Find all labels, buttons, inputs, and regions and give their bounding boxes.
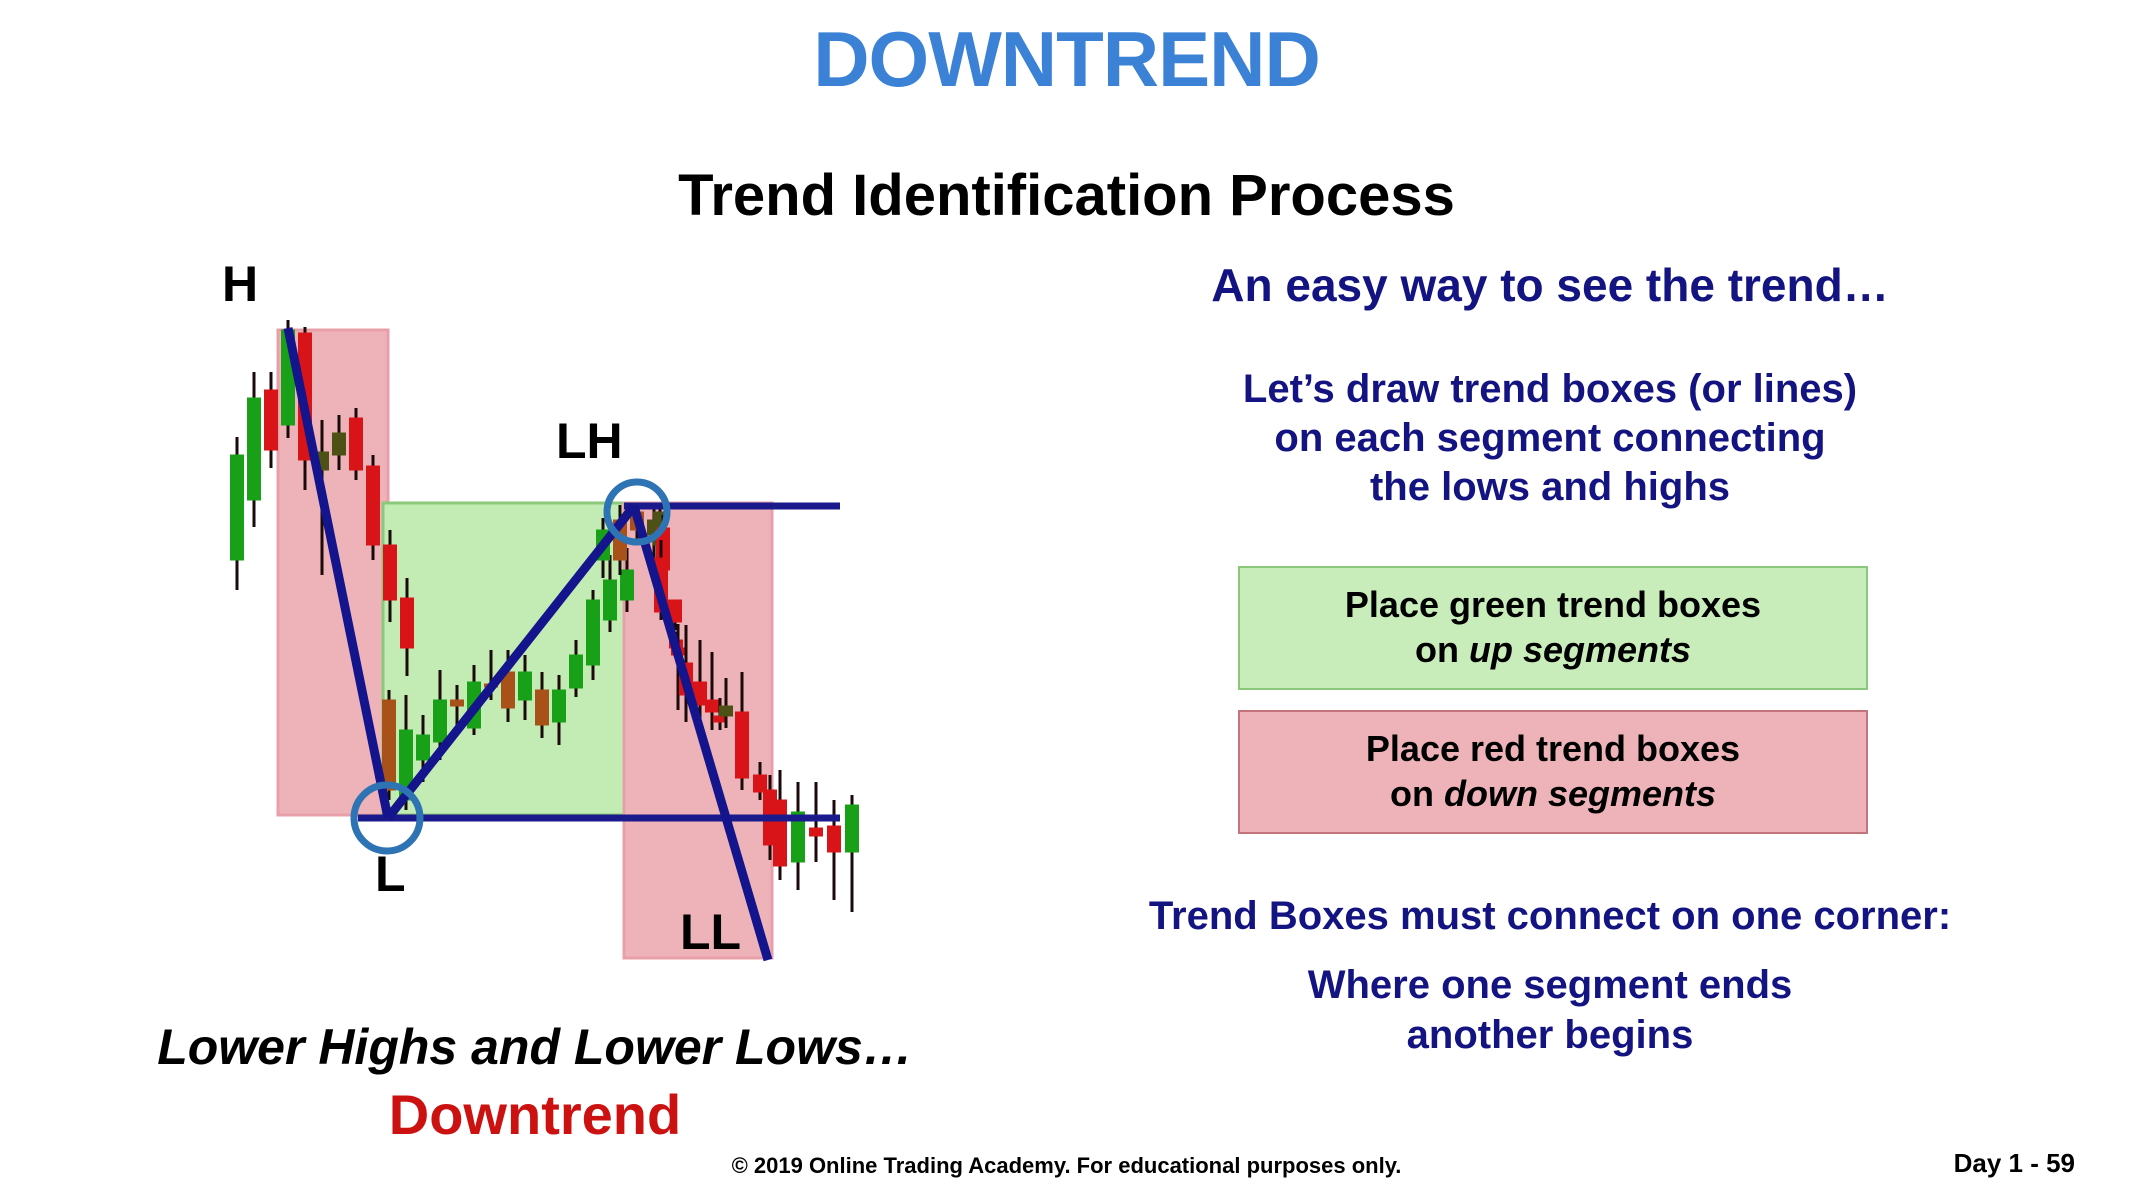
chart-caption-conclusion: Downtrend [110, 1082, 960, 1147]
trend-box-rule-body: Where one segment endsanother begins [1130, 960, 1970, 1060]
candle-body [570, 655, 583, 688]
pivot-label-high: H [222, 255, 258, 313]
candle-body [754, 775, 767, 792]
right-column-heading: An easy way to see the trend… [1100, 258, 2000, 312]
candlestick [350, 408, 363, 480]
candle-body [846, 805, 859, 852]
callout-green-line2: on up segments [1250, 627, 1856, 672]
candle-body [604, 580, 617, 620]
callout-red-line2-prefix: on [1390, 773, 1444, 814]
candlestick [231, 437, 244, 590]
candle-body [248, 398, 261, 500]
candle-body [333, 433, 346, 455]
candle-body [519, 672, 532, 700]
candle-body [367, 466, 380, 545]
candle-body [720, 706, 733, 716]
trend-box-rule-heading: Trend Boxes must connect on one corner: [1100, 894, 2000, 939]
candle-body [384, 545, 397, 600]
candle-body [810, 828, 823, 836]
candle-body [774, 800, 787, 866]
callout-green-trend-boxes: Place green trend boxes on up segments [1238, 566, 1868, 690]
page-subtitle: Trend Identification Process [0, 162, 2133, 229]
chart-caption-primary: Lower Highs and Lower Lows… [110, 1018, 960, 1076]
candlestick [265, 372, 278, 468]
candle-body [383, 700, 396, 790]
candle-body [265, 390, 278, 450]
pivot-label-low: L [375, 845, 406, 903]
candle-body [401, 598, 414, 648]
candle-body [553, 690, 566, 722]
callout-green-line1: Place green trend boxes [1250, 582, 1856, 627]
footer-page-number: Day 1 - 59 [1954, 1148, 2075, 1179]
callout-red-trend-boxes: Place red trend boxes on down segments [1238, 710, 1868, 834]
candlestick [774, 770, 787, 880]
candle-body [736, 712, 749, 778]
candlestick [810, 782, 823, 862]
candle-body [451, 700, 464, 706]
callout-green-line2-prefix: on [1415, 629, 1469, 670]
candle-body [231, 455, 244, 560]
candlestick [846, 795, 859, 912]
callout-red-line1: Place red trend boxes [1250, 726, 1856, 771]
pivot-label-lower-high: LH [556, 412, 623, 470]
candlestick [367, 455, 380, 560]
candle-body [417, 735, 430, 760]
candle-body [587, 600, 600, 665]
callout-green-line2-emphasis: up segments [1469, 629, 1691, 670]
candle-body [621, 570, 634, 600]
callout-red-line2-emphasis: down segments [1444, 773, 1716, 814]
candle-body [350, 418, 363, 470]
pivot-label-lower-low: LL [680, 903, 741, 961]
candle-body [828, 826, 841, 852]
right-column-paragraph: Let’s draw trend boxes (or lines)on each… [1130, 365, 1970, 511]
candle-body [706, 700, 719, 712]
candlestick-trend-chart [0, 0, 900, 1000]
candlestick [248, 372, 261, 527]
footer-copyright: © 2019 Online Trading Academy. For educa… [0, 1153, 2133, 1179]
candle-body [434, 700, 447, 742]
page-title: DOWNTREND [0, 14, 2133, 105]
candlestick [792, 782, 805, 890]
callout-red-line2: on down segments [1250, 771, 1856, 816]
candle-body [536, 690, 549, 725]
